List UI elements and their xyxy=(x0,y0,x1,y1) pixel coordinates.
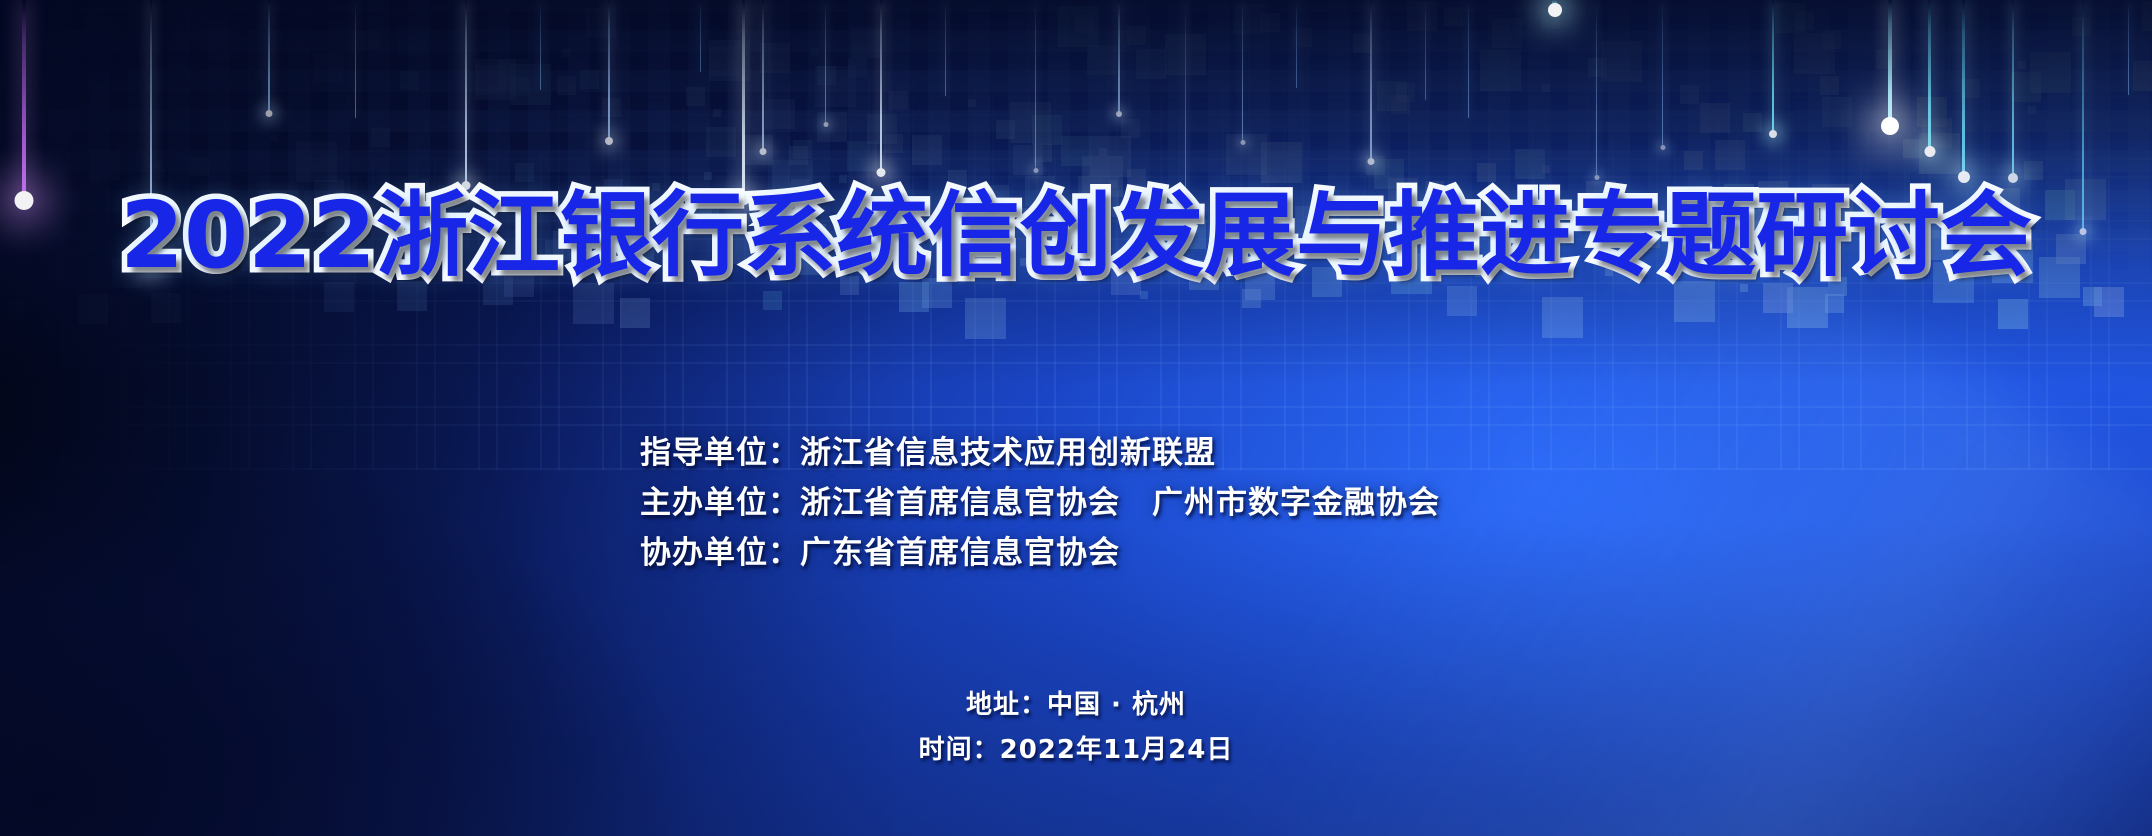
conference-poster: 2022浙江银行系统信创发展与推进专题研讨会 指导单位：浙江省信息技术应用创新联… xyxy=(0,0,2152,836)
page-title: 2022浙江银行系统信创发展与推进专题研讨会 xyxy=(0,190,2152,282)
venue-address-line: 地址：中国 · 杭州 xyxy=(0,683,2152,728)
organizer-line-host: 主办单位：浙江省首席信息官协会 广州市数字金融协会 xyxy=(640,478,1440,528)
organizer-list: 指导单位：浙江省信息技术应用创新联盟 主办单位：浙江省首席信息官协会 广州市数字… xyxy=(640,428,1440,578)
organizer-line-coorganizer: 协办单位：广东省首席信息官协会 xyxy=(640,528,1440,578)
venue-date-line: 时间：2022年11月24日 xyxy=(0,728,2152,773)
poster-content: 2022浙江银行系统信创发展与推进专题研讨会 指导单位：浙江省信息技术应用创新联… xyxy=(0,0,2152,836)
venue-info: 地址：中国 · 杭州 时间：2022年11月24日 xyxy=(0,683,2152,773)
organizer-line-guidance: 指导单位：浙江省信息技术应用创新联盟 xyxy=(640,428,1440,478)
